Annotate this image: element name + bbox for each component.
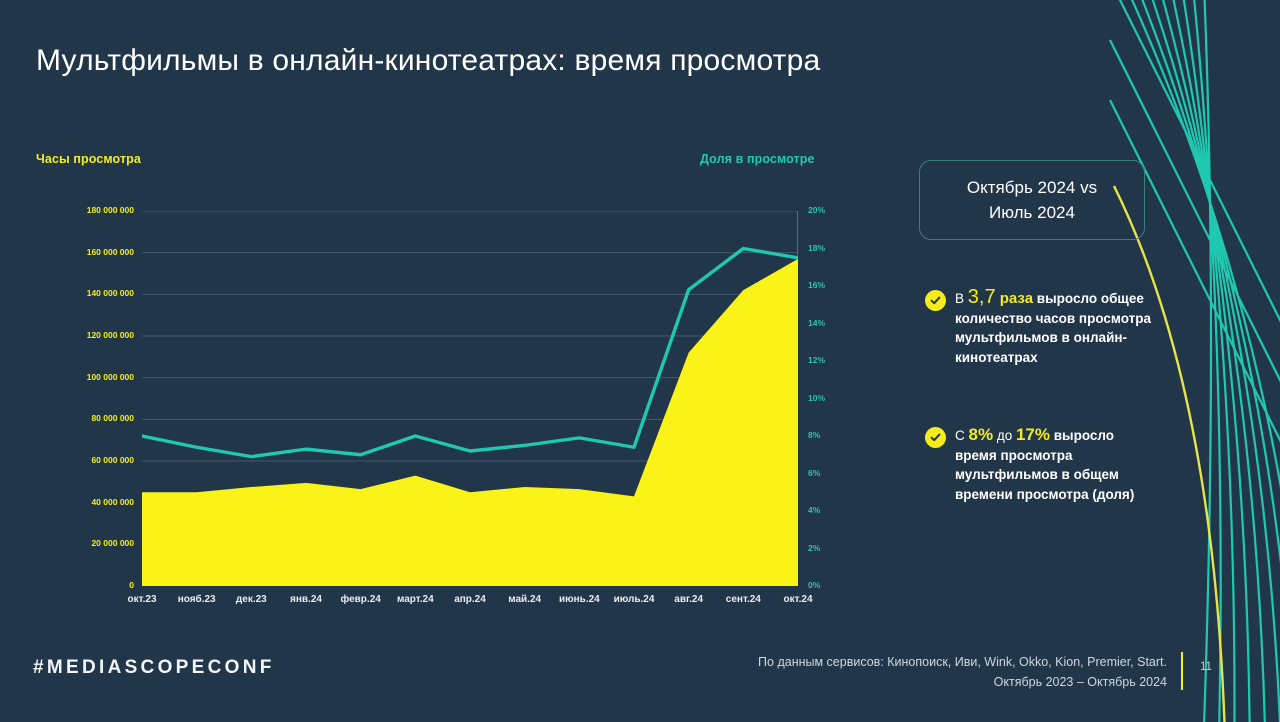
bullet-1-value-to: 17% [1016, 425, 1050, 444]
left-tick-label: 140 000 000 [40, 288, 134, 298]
chart-svg [142, 211, 798, 586]
conference-hashtag: #MEDIASCOPECONF [33, 657, 275, 679]
left-axis-title: Часы просмотра [36, 152, 141, 166]
source-line-2: Октябрь 2023 – Октябрь 2024 [994, 675, 1167, 689]
right-axis-title: Доля в просмотре [700, 152, 815, 166]
bullet-0-value: 3,7 [968, 286, 996, 308]
left-tick-label: 60 000 000 [40, 455, 134, 465]
right-tick-label: 16% [808, 280, 825, 290]
bullet-0-text: В 3,7 раза выросло общее количество часо… [955, 288, 1151, 367]
left-tick-label: 40 000 000 [40, 497, 134, 507]
source-note: По данным сервисов: Кинопоиск, Иви, Wink… [667, 652, 1167, 692]
comparison-callout-text: Октябрь 2024 vs Июль 2024 [967, 175, 1097, 225]
right-tick-label: 14% [808, 318, 825, 328]
x-tick-label: окт.24 [763, 594, 833, 605]
chart-container: Часы просмотра Доля в просмотре 020 000 … [0, 0, 900, 640]
check-circle-icon [925, 290, 946, 311]
left-tick-label: 180 000 000 [40, 205, 134, 215]
left-tick-label: 120 000 000 [40, 330, 134, 340]
bullet-1-text: С 8% до 17% выросло время просмотра муль… [955, 425, 1151, 504]
callout-line-1: Октябрь 2024 vs [967, 178, 1097, 197]
plot-area [142, 211, 798, 586]
right-tick-label: 4% [808, 505, 820, 515]
page-number-divider [1181, 652, 1183, 690]
right-tick-label: 6% [808, 468, 820, 478]
right-tick-label: 10% [808, 393, 825, 403]
callout-line-2: Июль 2024 [989, 203, 1075, 222]
right-tick-label: 8% [808, 430, 820, 440]
bullet-0-unit: раза [996, 290, 1033, 307]
source-line-1: По данным сервисов: Кинопоиск, Иви, Wink… [758, 655, 1167, 669]
check-circle-icon [925, 427, 946, 448]
bullet-0-pre: В [955, 291, 968, 306]
right-tick-label: 20% [808, 205, 825, 215]
bullet-item-hours-growth: В 3,7 раза выросло общее количество часо… [925, 288, 1151, 367]
left-tick-label: 20 000 000 [40, 538, 134, 548]
left-tick-label: 160 000 000 [40, 247, 134, 257]
bullet-1-pre: С [955, 428, 969, 443]
comparison-callout-box: Октябрь 2024 vs Июль 2024 [919, 160, 1145, 240]
bullet-1-value-from: 8% [969, 425, 994, 444]
right-tick-label: 2% [808, 543, 820, 553]
page-number: 11 [1200, 661, 1212, 673]
left-tick-label: 100 000 000 [40, 372, 134, 382]
left-tick-label: 80 000 000 [40, 413, 134, 423]
bullet-item-share-growth: С 8% до 17% выросло время просмотра муль… [925, 425, 1151, 504]
right-tick-label: 12% [808, 355, 825, 365]
bullet-1-mid: до [993, 428, 1016, 443]
right-tick-label: 0% [808, 580, 820, 590]
left-tick-label: 0 [40, 580, 134, 590]
right-tick-label: 18% [808, 243, 825, 253]
